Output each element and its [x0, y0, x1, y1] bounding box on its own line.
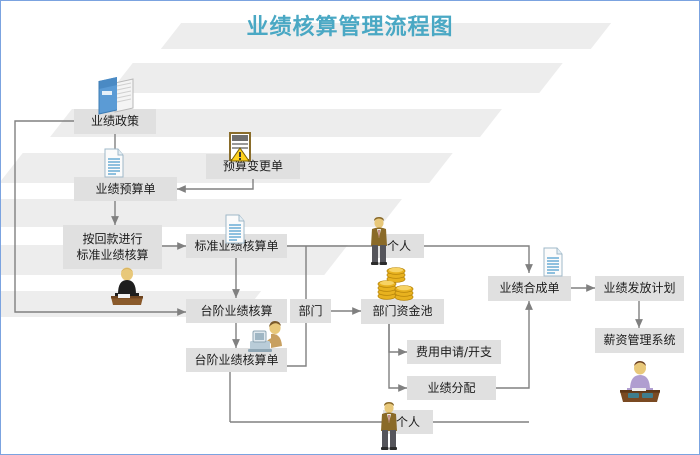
node-label: 业绩发放计划	[595, 281, 684, 296]
node-label: 业绩政策	[74, 114, 156, 129]
watermark-band-2	[109, 63, 562, 93]
document-icon-budget	[102, 147, 126, 179]
node-label: 个人	[374, 239, 424, 254]
node-label: 台阶业绩核算单	[186, 353, 287, 368]
node-label-line1: 按回款进行	[63, 231, 162, 247]
gold-coins-icon	[373, 264, 421, 302]
node-expense-request[interactable]: 费用申请/开支	[407, 340, 501, 364]
node-label: 按回款进行 标准业绩核算	[63, 231, 162, 263]
node-label: 薪资管理系统	[595, 333, 684, 348]
node-label: 预算变更单	[206, 159, 300, 174]
node-budget-change-form[interactable]: 预算变更单	[206, 154, 300, 179]
document-icon-synth	[541, 246, 565, 278]
flowchart-canvas: 业绩核算管理流程图	[0, 0, 700, 455]
node-label: 业绩合成单	[488, 281, 571, 296]
node-individual-top[interactable]: 个人	[374, 234, 424, 258]
node-label: 标准业绩核算单	[186, 239, 287, 254]
node-label: 业绩分配	[407, 381, 496, 396]
node-step-calc-form[interactable]: 台阶业绩核算单	[186, 348, 287, 372]
node-label: 台阶业绩核算	[186, 304, 287, 319]
node-individual-bottom[interactable]: 个人	[383, 410, 433, 434]
node-label: 部门	[290, 304, 331, 319]
page-title: 业绩核算管理流程图	[1, 9, 699, 41]
node-label: 费用申请/开支	[407, 345, 501, 360]
node-payout-plan[interactable]: 业绩发放计划	[595, 276, 684, 301]
node-payroll-system[interactable]: 薪资管理系统	[595, 328, 684, 353]
node-performance-allocation[interactable]: 业绩分配	[407, 376, 496, 400]
node-label: 业绩预算单	[74, 182, 177, 197]
node-department-pool[interactable]: 部门资金池	[361, 299, 444, 324]
node-label: 个人	[383, 415, 433, 430]
watermark-band-5	[0, 199, 402, 227]
node-performance-policy[interactable]: 业绩政策	[74, 109, 156, 134]
node-standard-calc-by-payment[interactable]: 按回款进行 标准业绩核算	[63, 225, 162, 269]
node-department[interactable]: 部门	[290, 299, 331, 323]
node-label: 部门资金池	[361, 304, 444, 319]
node-performance-synth-form[interactable]: 业绩合成单	[488, 276, 571, 301]
person-at-desk-icon-accountant	[105, 267, 149, 309]
watermark-band-6	[0, 245, 348, 275]
node-label-line2: 标准业绩核算	[63, 247, 162, 263]
node-step-calc[interactable]: 台阶业绩核算	[186, 299, 287, 323]
person-at-desk-icon-payroll	[614, 359, 666, 407]
node-standard-calc-form[interactable]: 标准业绩核算单	[186, 234, 287, 258]
node-performance-budget-form[interactable]: 业绩预算单	[74, 177, 177, 201]
